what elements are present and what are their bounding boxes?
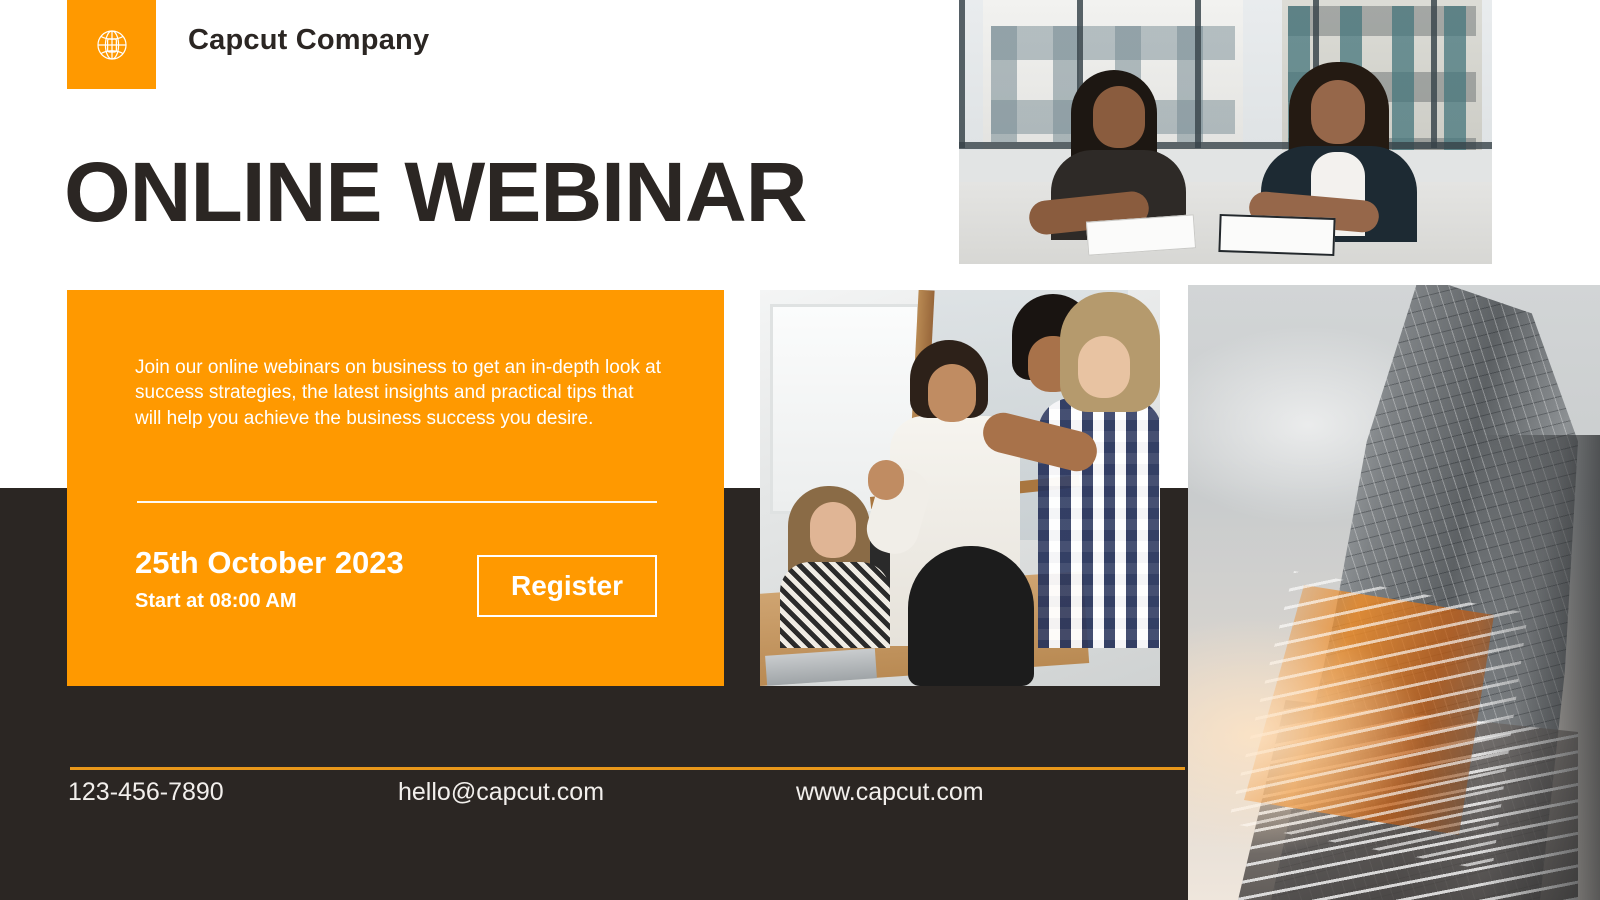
register-button[interactable]: Register	[477, 555, 657, 617]
meeting-photo	[959, 0, 1492, 264]
contact-phone[interactable]: 123-456-7890	[68, 778, 224, 807]
card-divider	[137, 501, 657, 503]
logo-tile	[67, 0, 156, 89]
info-paragraph: Join our online webinars on business to …	[135, 355, 665, 431]
company-name: Capcut Company	[188, 24, 429, 57]
team-photo	[760, 290, 1160, 686]
contact-website[interactable]: www.capcut.com	[796, 778, 984, 807]
globe-grid-icon	[91, 24, 133, 66]
footer-divider	[70, 767, 1185, 770]
page-title: ONLINE WEBINAR	[64, 150, 807, 234]
info-card: Join our online webinars on business to …	[67, 290, 724, 686]
contact-email[interactable]: hello@capcut.com	[398, 778, 604, 807]
webinar-poster: Capcut Company ONLINE WEBINAR	[0, 0, 1600, 900]
event-date: 25th October 2023	[135, 545, 404, 581]
tower-photo	[1188, 285, 1600, 900]
event-time: Start at 08:00 AM	[135, 590, 297, 613]
